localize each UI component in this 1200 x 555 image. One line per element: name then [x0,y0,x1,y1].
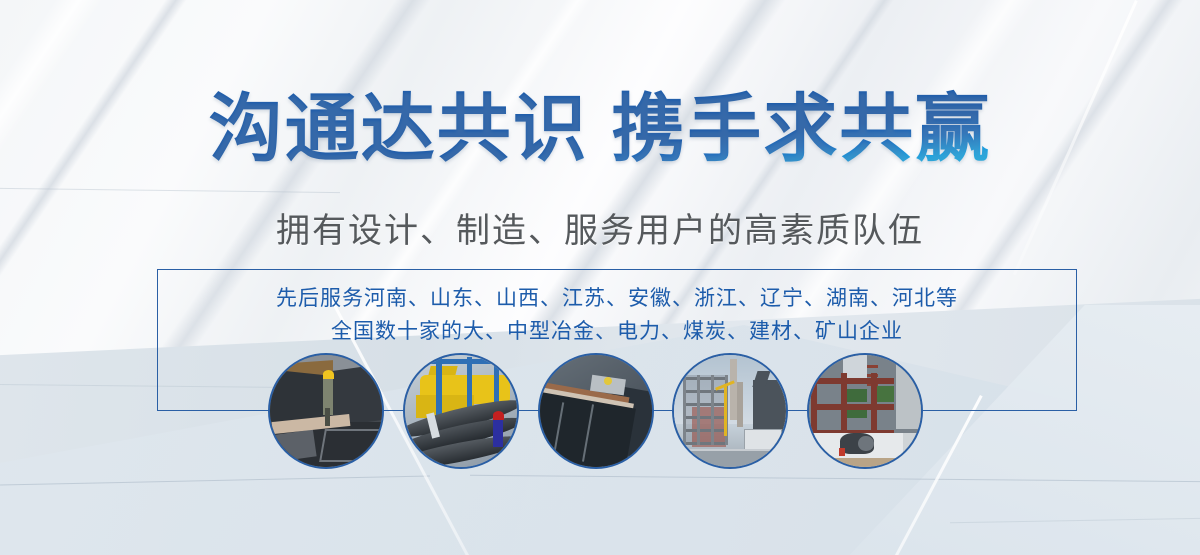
background-hairline [0,188,340,193]
info-text-block: 先后服务河南、山东、山西、江苏、安徽、浙江、辽宁、湖南、河北等 全国数十家的大、… [157,282,1077,348]
project-photo-4[interactable] [672,353,788,469]
project-photo-3[interactable] [538,353,654,469]
project-photo-2[interactable] [403,353,519,469]
project-photo-1[interactable] [268,353,384,469]
project-photo-row [268,353,923,471]
project-photo-5[interactable] [807,353,923,469]
photo-steel-duct-structure [540,355,652,467]
photo-workshop-interior [809,355,921,467]
banner-headline-text: 沟通达共识 携手求共赢 [209,87,992,170]
banner-headline: 沟通达共识 携手求共赢 [0,92,1200,166]
background-hairline [470,475,1200,482]
background-hairline [0,475,430,485]
photo-power-plant-construction [674,355,786,467]
promo-banner: 沟通达共识 携手求共赢 拥有设计、制造、服务用户的高素质队伍 先后服务河南、山东… [0,0,1200,555]
photo-steel-plate-installation [270,355,382,467]
banner-subtitle: 拥有设计、制造、服务用户的高素质队伍 [0,203,1200,252]
info-line-1: 先后服务河南、山东、山西、江苏、安徽、浙江、辽宁、湖南、河北等 [157,282,1077,315]
photo-yellow-equipment-pipes [405,355,517,467]
diagonal-streak [0,0,52,555]
background-hairline [950,518,1200,524]
info-line-2: 全国数十家的大、中型冶金、电力、煤炭、建材、矿山企业 [157,315,1077,348]
